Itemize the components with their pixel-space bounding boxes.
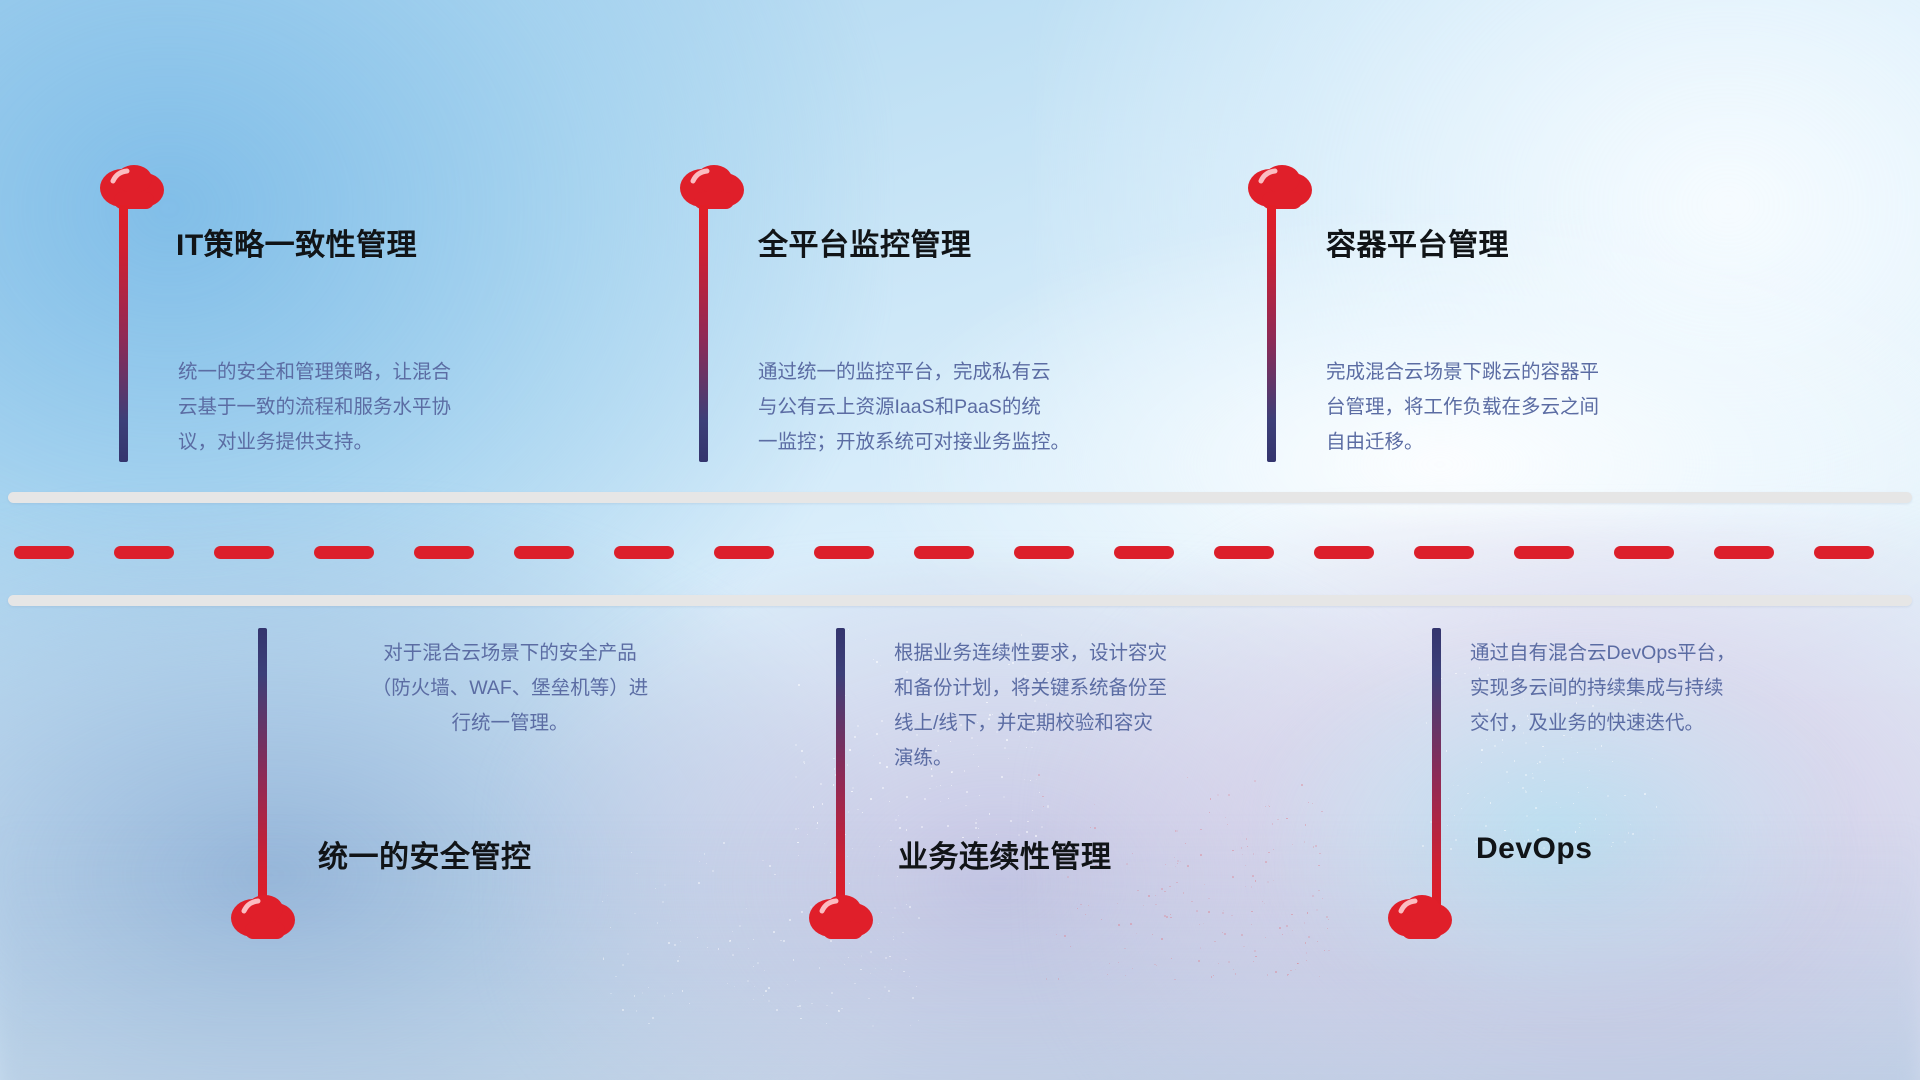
card-description: 对于混合云场景下的安全产品 （防火墙、WAF、堡垒机等）进 行统一管理。 xyxy=(300,636,720,741)
road-dash xyxy=(1014,546,1074,559)
road-dash xyxy=(1314,546,1374,559)
road-dash xyxy=(514,546,574,559)
card-title: 统一的安全管控 xyxy=(318,832,532,876)
infographic-canvas: IT策略一致性管理 统一的安全和管理策略，让混合 云基于一致的流程和服务水平协 … xyxy=(0,0,1920,1080)
card-description: 完成混合云场景下跳云的容器平 台管理，将工作负载在多云之间 自由迁移。 xyxy=(1326,355,1786,460)
card-title: 容器平台管理 xyxy=(1326,220,1509,264)
card-description: 根据业务连续性要求，设计容灾 和备份计划，将关键系统备份至 线上/线下，并定期校… xyxy=(894,636,1334,776)
card-description: 通过统一的监控平台，完成私有云 与公有云上资源IaaS和PaaS的统 一监控；开… xyxy=(758,355,1228,460)
road-rail-bottom xyxy=(8,595,1912,606)
card-title: DevOps xyxy=(1476,832,1592,866)
card-title: IT策略一致性管理 xyxy=(176,220,417,264)
cloud-icon xyxy=(1244,162,1316,214)
road-dash xyxy=(1614,546,1674,559)
connector-stem xyxy=(836,628,845,916)
road-dash xyxy=(714,546,774,559)
road-dash xyxy=(1814,546,1874,559)
cloud-icon xyxy=(96,162,168,214)
cloud-icon xyxy=(1384,892,1456,944)
road-dash xyxy=(414,546,474,559)
road-dash xyxy=(1214,546,1274,559)
card-description: 统一的安全和管理策略，让混合 云基于一致的流程和服务水平协 议，对业务提供支持。 xyxy=(178,355,618,460)
road-rail-top xyxy=(8,492,1912,503)
connector-stem xyxy=(258,628,267,916)
road-dash xyxy=(1114,546,1174,559)
connector-stem xyxy=(119,205,128,462)
road-dash xyxy=(614,546,674,559)
road-dash xyxy=(1514,546,1574,559)
connector-stem xyxy=(699,205,708,462)
card-description: 通过自有混合云DevOps平台， 实现多云间的持续集成与持续 交付，及业务的快速… xyxy=(1470,636,1900,741)
road-dash xyxy=(814,546,874,559)
road-dash xyxy=(114,546,174,559)
card-title: 全平台监控管理 xyxy=(758,220,972,264)
road-dash xyxy=(14,546,74,559)
cloud-icon xyxy=(805,892,877,944)
road-dash xyxy=(214,546,274,559)
road-dash xyxy=(314,546,374,559)
connector-stem xyxy=(1432,628,1441,916)
road-center-dashed-line xyxy=(0,545,1920,559)
road-dash xyxy=(1714,546,1774,559)
cloud-icon xyxy=(676,162,748,214)
cloud-icon xyxy=(227,892,299,944)
road-dash xyxy=(914,546,974,559)
card-title: 业务连续性管理 xyxy=(898,832,1112,876)
road-dash xyxy=(1414,546,1474,559)
connector-stem xyxy=(1267,205,1276,462)
